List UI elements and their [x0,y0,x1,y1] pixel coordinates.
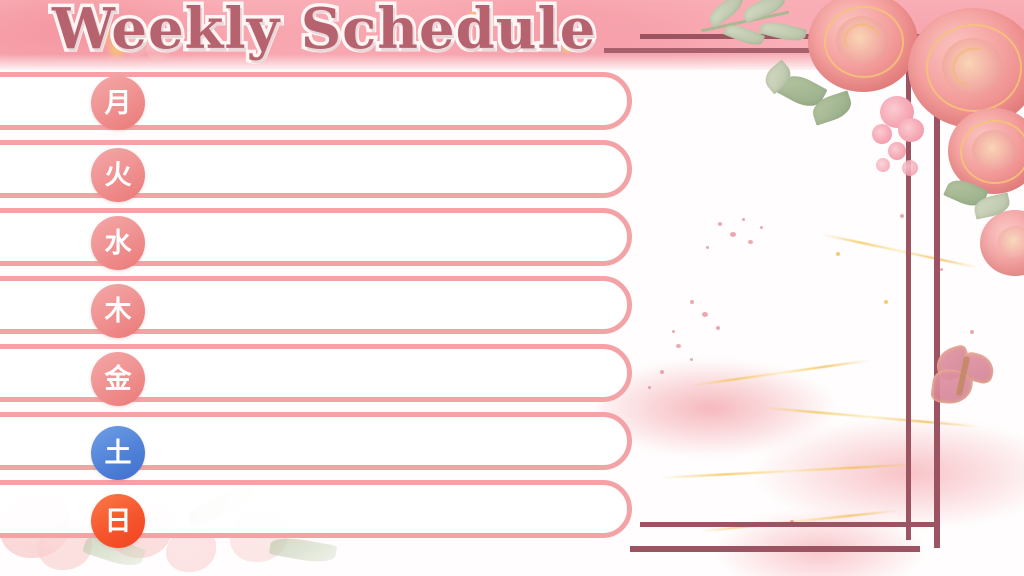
schedule-poster: Weekly Schedule 月 火 水 木 金 土 日 [0,0,1024,576]
day-badge-monday[interactable]: 月 [91,76,145,130]
butterfly-icon [930,344,1004,418]
speckle [690,358,693,361]
frame-right-outer [934,58,940,548]
day-badge-friday[interactable]: 金 [91,352,145,406]
speckle [760,226,763,229]
speckle [742,218,745,221]
day-badge-wednesday[interactable]: 水 [91,216,145,270]
frame-bottom-outer [630,546,920,552]
blossom [876,158,890,172]
speckle [660,370,664,374]
speckle [690,300,694,304]
speckle [676,344,681,348]
day-badge-thursday[interactable]: 木 [91,284,145,338]
speckle [648,386,651,389]
rose-ring [960,120,1024,184]
blossom [888,142,906,160]
speckle [716,326,720,330]
speckle [672,330,675,333]
rose-core [998,226,1024,258]
day-badge-sunday[interactable]: 日 [91,494,145,548]
speckle [718,222,722,226]
speckle [706,246,709,249]
blossom [902,160,918,176]
blossom [898,118,924,142]
speckle [836,252,840,256]
speckle [940,268,943,271]
rose-ring [926,24,1022,112]
day-badge-saturday[interactable]: 土 [91,426,145,480]
leaf [269,534,337,565]
speckle [884,300,888,304]
rose-ring [824,6,904,78]
page-title: Weekly Schedule [52,0,596,62]
speckle [970,330,974,334]
speckle [730,232,736,237]
speckle [748,240,753,244]
frame-bottom-inner [640,522,940,527]
speckle [900,214,904,218]
speckle [702,312,708,317]
day-badge-tuesday[interactable]: 火 [91,148,145,202]
blossom [872,124,892,144]
